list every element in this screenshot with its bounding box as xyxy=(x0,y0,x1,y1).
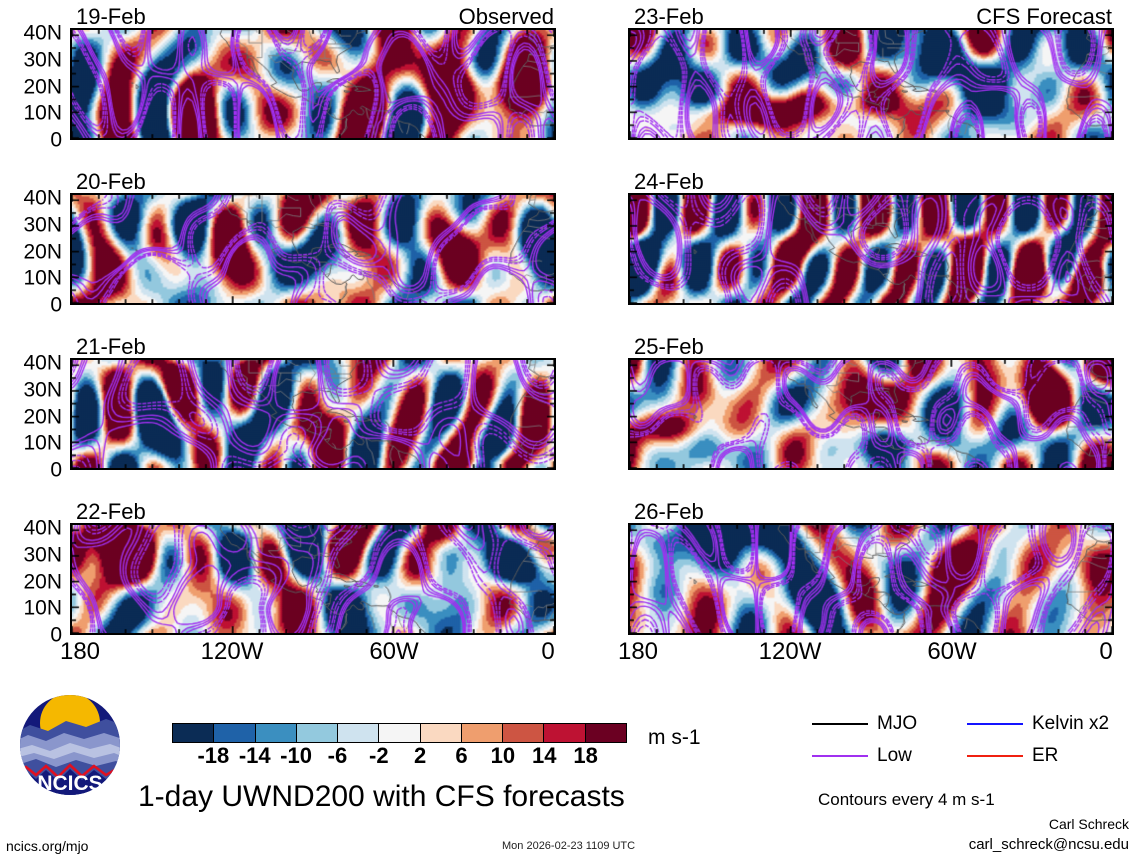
panel-date-label: 23-Feb xyxy=(634,6,704,28)
x-axis-tick-label: 180 xyxy=(60,639,100,665)
y-axis-tick-label: 20N xyxy=(23,406,62,427)
colorbar-tick-label: 10 xyxy=(491,744,515,768)
map-panel-26-feb: 26-Feb180120W60W0 xyxy=(628,501,1114,635)
x-axis-tick-label: 0 xyxy=(1099,639,1112,665)
author-email: carl_schreck@ncsu.edu xyxy=(969,836,1129,853)
map-canvas xyxy=(630,30,1112,138)
colorbar-swatch xyxy=(378,724,419,742)
panel-date-label: 20-Feb xyxy=(76,171,146,193)
y-axis-tick-label: 20N xyxy=(23,571,62,592)
legend-entry-er: ER xyxy=(967,745,1122,767)
colorbar-tick-label: -10 xyxy=(280,744,312,768)
legend-line-icon xyxy=(967,755,1023,757)
ncics-logo-text: NCICS xyxy=(37,772,102,795)
legend-line-icon xyxy=(812,755,868,757)
colorbar-swatch xyxy=(173,724,213,742)
legend-entry-mjo: MJO xyxy=(812,713,967,735)
x-axis-labels: 180120W60W0 xyxy=(628,639,1114,669)
y-axis-tick-label: 30N xyxy=(23,545,62,566)
panel-date-label: 21-Feb xyxy=(76,336,146,358)
map-plot-area[interactable] xyxy=(70,28,556,140)
legend-label: Kelvin x2 xyxy=(1032,713,1109,735)
colorbar: -18-14-10-6-226101418 xyxy=(172,723,627,770)
map-canvas xyxy=(72,525,554,633)
colorbar-swatch xyxy=(255,724,296,742)
legend-row: MJO Kelvin x2 xyxy=(812,708,1122,740)
legend-label: ER xyxy=(1032,745,1058,767)
figure-root: 19-FebObserved40N30N20N10N020-Feb40N30N2… xyxy=(0,0,1135,859)
colorbar-swatch xyxy=(585,724,626,742)
panel-date-label: 26-Feb xyxy=(634,501,704,523)
map-panel-21-feb: 21-Feb40N30N20N10N0 xyxy=(70,336,556,470)
y-axis-tick-label: 10N xyxy=(23,598,62,619)
panel-source-label: CFS Forecast xyxy=(976,6,1112,28)
colorbar-swatches xyxy=(172,723,627,743)
colorbar-tick-label: -14 xyxy=(239,744,271,768)
colorbar-swatch xyxy=(543,724,584,742)
y-axis-tick-label: 40N xyxy=(23,188,62,209)
colorbar-swatch xyxy=(420,724,461,742)
map-plot-area[interactable] xyxy=(628,193,1114,305)
y-axis-tick-label: 10N xyxy=(23,268,62,289)
colorbar-swatch xyxy=(502,724,543,742)
colorbar-tick-label: -2 xyxy=(369,744,389,768)
legend-line-icon xyxy=(967,723,1023,725)
y-axis-tick-label: 30N xyxy=(23,215,62,236)
y-axis-tick-label: 0 xyxy=(50,130,62,151)
ncics-logo-icon: NCICS xyxy=(16,693,124,797)
x-axis-labels: 180120W60W0 xyxy=(70,639,556,669)
y-axis-tick-label: 40N xyxy=(23,518,62,539)
y-axis-tick-label: 0 xyxy=(50,460,62,481)
y-axis-tick-label: 10N xyxy=(23,433,62,454)
colorbar-units-label: m s-1 xyxy=(648,726,701,750)
colorbar-swatch xyxy=(213,724,254,742)
site-url-link[interactable]: ncics.org/mjo xyxy=(6,838,88,854)
map-plot-area[interactable] xyxy=(628,523,1114,635)
map-canvas xyxy=(630,195,1112,303)
y-axis-tick-label: 20N xyxy=(23,241,62,262)
map-plot-area[interactable] xyxy=(70,193,556,305)
y-axis-tick-label: 40N xyxy=(23,353,62,374)
map-canvas xyxy=(630,360,1112,468)
panel-date-label: 19-Feb xyxy=(76,6,146,28)
contour-legend: MJO Kelvin x2 Low ER xyxy=(812,708,1122,772)
map-canvas xyxy=(72,195,554,303)
colorbar-tick-label: -18 xyxy=(197,744,229,768)
author-name: Carl Schreck xyxy=(1049,816,1129,832)
colorbar-tick-label: -6 xyxy=(328,744,348,768)
map-plot-area[interactable] xyxy=(70,358,556,470)
map-panel-25-feb: 25-Feb xyxy=(628,336,1114,470)
panel-date-label: 24-Feb xyxy=(634,171,704,193)
y-axis-tick-label: 10N xyxy=(23,103,62,124)
legend-line-icon xyxy=(812,723,868,725)
colorbar-tick-label: 2 xyxy=(414,744,426,768)
y-axis-labels: 40N30N20N10N0 xyxy=(4,28,66,140)
ncics-logo: NCICS xyxy=(16,693,124,797)
colorbar-tick-label: 14 xyxy=(532,744,556,768)
map-panel-23-feb: 23-FebCFS Forecast xyxy=(628,6,1114,140)
contour-interval-note: Contours every 4 m s-1 xyxy=(818,790,995,810)
y-axis-tick-label: 40N xyxy=(23,23,62,44)
colorbar-swatch xyxy=(337,724,378,742)
legend-label: MJO xyxy=(877,713,917,735)
colorbar-tick-label: 18 xyxy=(573,744,597,768)
legend-entry-low: Low xyxy=(812,745,967,767)
map-canvas xyxy=(72,30,554,138)
map-panel-24-feb: 24-Feb xyxy=(628,171,1114,305)
panel-date-label: 22-Feb xyxy=(76,501,146,523)
map-panel-22-feb: 22-Feb40N30N20N10N0180120W60W0 xyxy=(70,501,556,635)
panel-date-label: 25-Feb xyxy=(634,336,704,358)
map-canvas xyxy=(72,360,554,468)
panel-source-label: Observed xyxy=(459,6,554,28)
x-axis-tick-label: 120W xyxy=(201,639,264,665)
x-axis-tick-label: 0 xyxy=(541,639,554,665)
legend-row: Low ER xyxy=(812,740,1122,772)
colorbar-swatch xyxy=(296,724,337,742)
y-axis-labels: 40N30N20N10N0 xyxy=(4,358,66,470)
map-panel-20-feb: 20-Feb40N30N20N10N0 xyxy=(70,171,556,305)
x-axis-tick-label: 180 xyxy=(618,639,658,665)
colorbar-tick-labels: -18-14-10-6-226101418 xyxy=(172,744,627,770)
map-canvas xyxy=(630,525,1112,633)
map-plot-area[interactable] xyxy=(628,28,1114,140)
y-axis-labels: 40N30N20N10N0 xyxy=(4,523,66,635)
y-axis-tick-label: 30N xyxy=(23,50,62,71)
map-panel-19-feb: 19-FebObserved40N30N20N10N0 xyxy=(70,6,556,140)
map-plot-area[interactable] xyxy=(628,358,1114,470)
y-axis-tick-label: 20N xyxy=(23,76,62,97)
legend-entry-kelvin: Kelvin x2 xyxy=(967,713,1122,735)
y-axis-labels: 40N30N20N10N0 xyxy=(4,193,66,305)
figure-title: 1-day UWND200 with CFS forecasts xyxy=(138,780,625,814)
x-axis-tick-label: 60W xyxy=(927,639,976,665)
x-axis-tick-label: 120W xyxy=(759,639,822,665)
y-axis-tick-label: 30N xyxy=(23,380,62,401)
legend-label: Low xyxy=(877,745,912,767)
colorbar-tick-label: 6 xyxy=(455,744,467,768)
x-axis-tick-label: 60W xyxy=(369,639,418,665)
colorbar-swatch xyxy=(461,724,502,742)
y-axis-tick-label: 0 xyxy=(50,295,62,316)
map-plot-area[interactable] xyxy=(70,523,556,635)
render-timestamp: Mon 2026-02-23 1109 UTC xyxy=(502,840,635,852)
